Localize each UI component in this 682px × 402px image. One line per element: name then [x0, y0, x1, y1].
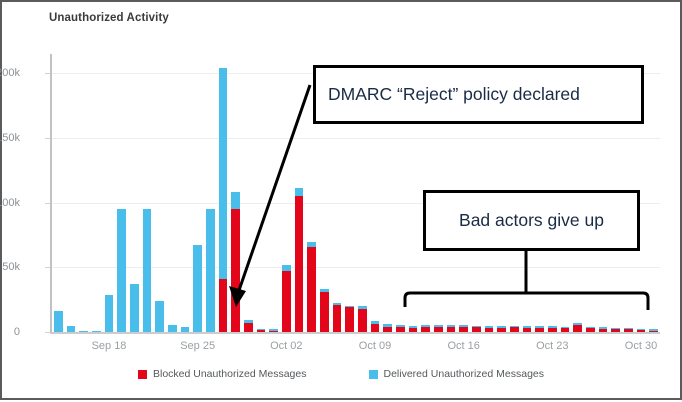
bar-column[interactable]	[459, 325, 467, 332]
bar-segment-delivered	[105, 295, 113, 332]
bar-column[interactable]	[269, 329, 277, 332]
bar-segment-blocked	[586, 328, 594, 332]
y-axis-tick-mark	[45, 138, 50, 139]
x-axis-tick-label: Sep 18	[92, 340, 127, 352]
bar-column[interactable]	[244, 320, 252, 332]
bar-column[interactable]	[535, 326, 543, 332]
bar-segment-blocked	[561, 328, 569, 332]
legend-swatch-icon	[369, 370, 378, 379]
bar-segment-blocked	[548, 328, 556, 332]
bar-column[interactable]	[105, 295, 113, 332]
bar-column[interactable]	[485, 326, 493, 332]
bar-segment-blocked	[345, 307, 353, 332]
bar-column[interactable]	[548, 326, 556, 332]
y-axis-tick-mark	[45, 267, 50, 268]
bar-column[interactable]	[333, 303, 341, 332]
bar-column[interactable]	[573, 323, 581, 332]
bar-segment-blocked	[510, 327, 518, 332]
bar-segment-blocked	[573, 325, 581, 332]
bar-column[interactable]	[510, 326, 518, 332]
bar-column[interactable]	[611, 328, 619, 332]
bar-column[interactable]	[472, 326, 480, 332]
bar-column[interactable]	[358, 306, 366, 332]
bar-column[interactable]	[155, 301, 163, 332]
y-axis-tick-label: 50k	[0, 261, 20, 273]
annotation-dmarc-policy: DMARC “Reject” policy declared	[313, 65, 644, 124]
bar-segment-delivered	[231, 192, 239, 209]
bar-segment-blocked	[219, 279, 227, 332]
x-axis-line	[50, 332, 660, 334]
legend-item[interactable]: Delivered Unauthorized Messages	[369, 368, 545, 380]
y-axis-tick-label: 100k	[0, 197, 20, 209]
bar-segment-blocked	[383, 327, 391, 332]
bar-column[interactable]	[92, 331, 100, 333]
bar-segment-blocked	[535, 328, 543, 332]
x-axis-tick-label: Oct 16	[447, 340, 479, 352]
bar-column[interactable]	[599, 327, 607, 332]
bar-segment-blocked	[282, 271, 290, 332]
bar-segment-delivered	[92, 331, 100, 333]
bar-segment-delivered	[219, 68, 227, 279]
bar-column[interactable]	[168, 325, 176, 332]
bar-segment-blocked	[231, 209, 239, 332]
bar-column[interactable]	[206, 209, 214, 332]
y-axis-tick-label: 200k	[0, 67, 20, 79]
y-axis-tick-label: 0	[0, 326, 20, 338]
bar-column[interactable]	[54, 311, 62, 332]
x-axis-tick-label: Sep 25	[180, 340, 215, 352]
bar-column[interactable]	[143, 209, 151, 332]
bar-column[interactable]	[295, 188, 303, 332]
bar-segment-delivered	[168, 325, 176, 332]
bar-column[interactable]	[282, 265, 290, 332]
bar-segment-blocked	[257, 330, 265, 332]
bar-segment-blocked	[599, 329, 607, 332]
y-axis-tick-mark	[45, 203, 50, 204]
bar-column[interactable]	[130, 284, 138, 332]
bar-segment-blocked	[624, 329, 632, 332]
bar-column[interactable]	[307, 242, 315, 333]
bar-column[interactable]	[257, 329, 265, 332]
bar-column[interactable]	[447, 325, 455, 332]
bar-column[interactable]	[649, 329, 657, 332]
legend-item[interactable]: Blocked Unauthorized Messages	[138, 368, 307, 380]
bar-segment-blocked	[649, 331, 657, 333]
bar-segment-delivered	[206, 209, 214, 332]
bar-column[interactable]	[637, 329, 645, 332]
bar-segment-blocked	[358, 309, 366, 332]
bar-column[interactable]	[523, 326, 531, 332]
bar-column[interactable]	[320, 289, 328, 332]
bar-column[interactable]	[421, 325, 429, 332]
legend-label: Blocked Unauthorized Messages	[153, 368, 307, 380]
bar-segment-delivered	[79, 331, 87, 333]
x-axis-tick-label: Oct 09	[359, 340, 391, 352]
bar-segment-delivered	[193, 245, 201, 332]
bar-column[interactable]	[434, 325, 442, 332]
bar-column[interactable]	[497, 326, 505, 332]
bar-column[interactable]	[193, 245, 201, 332]
bar-column[interactable]	[117, 209, 125, 332]
bar-segment-blocked	[485, 328, 493, 332]
bar-segment-blocked	[244, 323, 252, 332]
legend-swatch-icon	[138, 370, 147, 379]
legend-label: Delivered Unauthorized Messages	[384, 368, 545, 380]
y-axis-tick-mark	[45, 332, 50, 333]
annotation-bad-actors-text: Bad actors give up	[459, 210, 604, 231]
bar-segment-blocked	[295, 196, 303, 332]
bar-segment-blocked	[320, 292, 328, 332]
bar-column[interactable]	[624, 328, 632, 332]
x-axis-tick-label: Oct 02	[270, 340, 302, 352]
chart-frame: Unauthorized Activity 050k100k150k200k S…	[0, 0, 682, 400]
bar-column[interactable]	[561, 327, 569, 332]
bar-column[interactable]	[586, 327, 594, 332]
bar-segment-blocked	[497, 328, 505, 332]
bar-segment-blocked	[611, 329, 619, 332]
bar-column[interactable]	[67, 326, 75, 332]
bar-column[interactable]	[231, 192, 239, 332]
bar-segment-delivered	[54, 311, 62, 332]
bar-column[interactable]	[79, 331, 87, 333]
bar-segment-delivered	[181, 327, 189, 332]
bar-segment-blocked	[459, 327, 467, 332]
bar-column[interactable]	[371, 321, 379, 332]
bar-column[interactable]	[383, 324, 391, 332]
bar-column[interactable]	[181, 327, 189, 332]
bar-segment-delivered	[117, 209, 125, 332]
bar-segment-blocked	[307, 247, 315, 332]
bar-column[interactable]	[409, 326, 417, 332]
bar-segment-blocked	[396, 327, 404, 332]
bar-segment-blocked	[269, 331, 277, 333]
y-axis-tick-mark	[45, 73, 50, 74]
x-axis-tick-label: Oct 30	[625, 340, 657, 352]
bar-segment-blocked	[637, 330, 645, 332]
bar-segment-blocked	[523, 328, 531, 332]
bar-segment-delivered	[67, 326, 75, 332]
annotation-bad-actors: Bad actors give up	[423, 190, 640, 251]
chart-legend: Blocked Unauthorized MessagesDelivered U…	[2, 368, 680, 380]
bar-segment-blocked	[421, 327, 429, 332]
bar-segment-delivered	[295, 188, 303, 196]
bar-column[interactable]	[345, 306, 353, 333]
bar-segment-blocked	[371, 324, 379, 332]
y-axis-tick-label: 150k	[0, 132, 20, 144]
bar-segment-blocked	[447, 327, 455, 332]
bar-segment-delivered	[143, 209, 151, 332]
bar-column[interactable]	[396, 325, 404, 332]
bar-segment-blocked	[434, 327, 442, 332]
bar-segment-delivered	[130, 284, 138, 332]
page-title: Unauthorized Activity	[49, 12, 169, 24]
bar-segment-blocked	[409, 328, 417, 332]
x-axis-tick-label: Oct 23	[536, 340, 568, 352]
bar-segment-blocked	[472, 327, 480, 332]
annotation-dmarc-text: DMARC “Reject” policy declared	[328, 84, 580, 105]
bar-segment-delivered	[155, 301, 163, 332]
bar-column[interactable]	[219, 68, 227, 332]
bar-segment-blocked	[333, 305, 341, 332]
